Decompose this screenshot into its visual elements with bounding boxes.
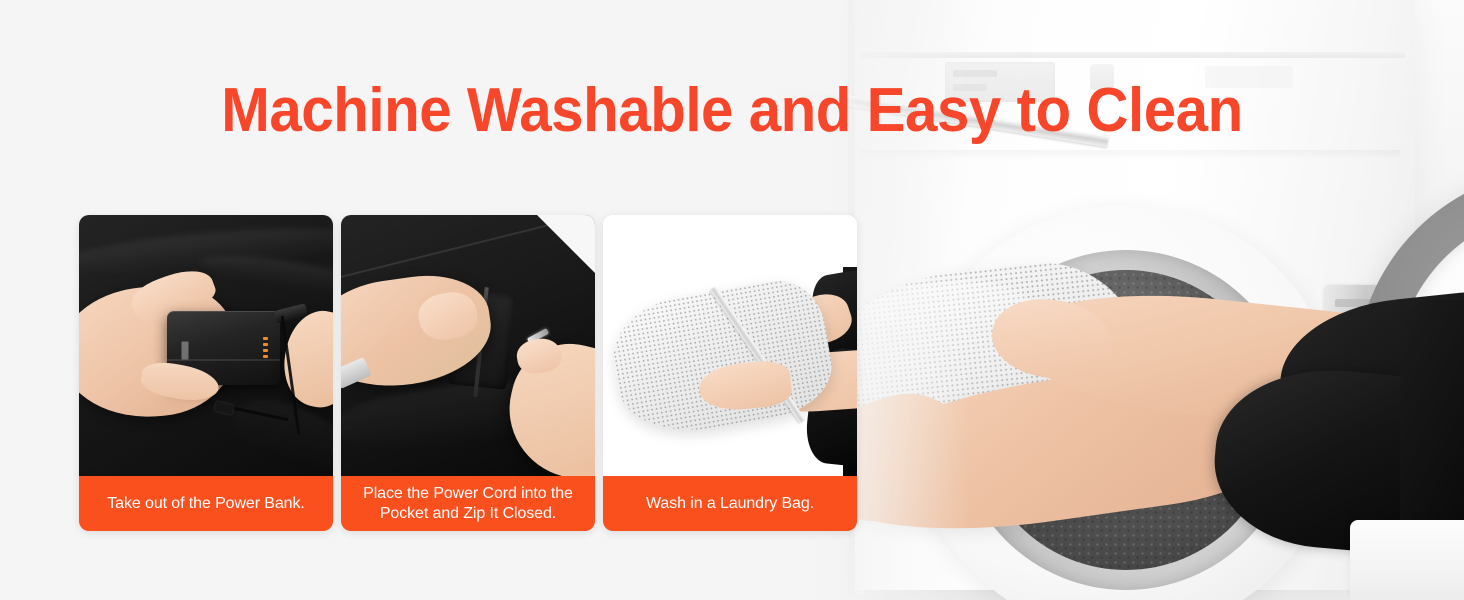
photo-corner-cut — [535, 215, 595, 275]
promo-banner: Machine Washable and Easy to Clean — [0, 0, 1464, 600]
step-card-1-caption: Take out of the Power Bank. — [79, 476, 333, 531]
step-card-1[interactable]: Take out of the Power Bank. — [79, 215, 333, 531]
step-card-2-caption: Place the Power Cord into the Pocket and… — [341, 476, 595, 531]
page-title: Machine Washable and Easy to Clean — [44, 76, 1420, 146]
hands-holding-laundry-bag-photo — [603, 215, 857, 476]
step-card-2[interactable]: Place the Power Cord into the Pocket and… — [341, 215, 595, 531]
step-card-2-caption-text: Place the Power Cord into the Pocket and… — [349, 484, 587, 524]
power-bank-logo — [182, 342, 189, 360]
hands-zipping-pocket-photo — [341, 215, 595, 476]
step-card-3-caption: Wash in a Laundry Bag. — [603, 476, 857, 531]
steps-card-group: Take out of the Power Bank. Place the Po… — [79, 215, 859, 531]
hand-holding-power-bank-photo — [79, 215, 333, 476]
step-card-3-caption-text: Wash in a Laundry Bag. — [646, 494, 814, 514]
cord-connector — [214, 401, 234, 415]
power-bank-leds — [263, 337, 268, 363]
step-card-1-caption-text: Take out of the Power Bank. — [107, 494, 304, 514]
step-card-3[interactable]: Wash in a Laundry Bag. — [603, 215, 857, 531]
